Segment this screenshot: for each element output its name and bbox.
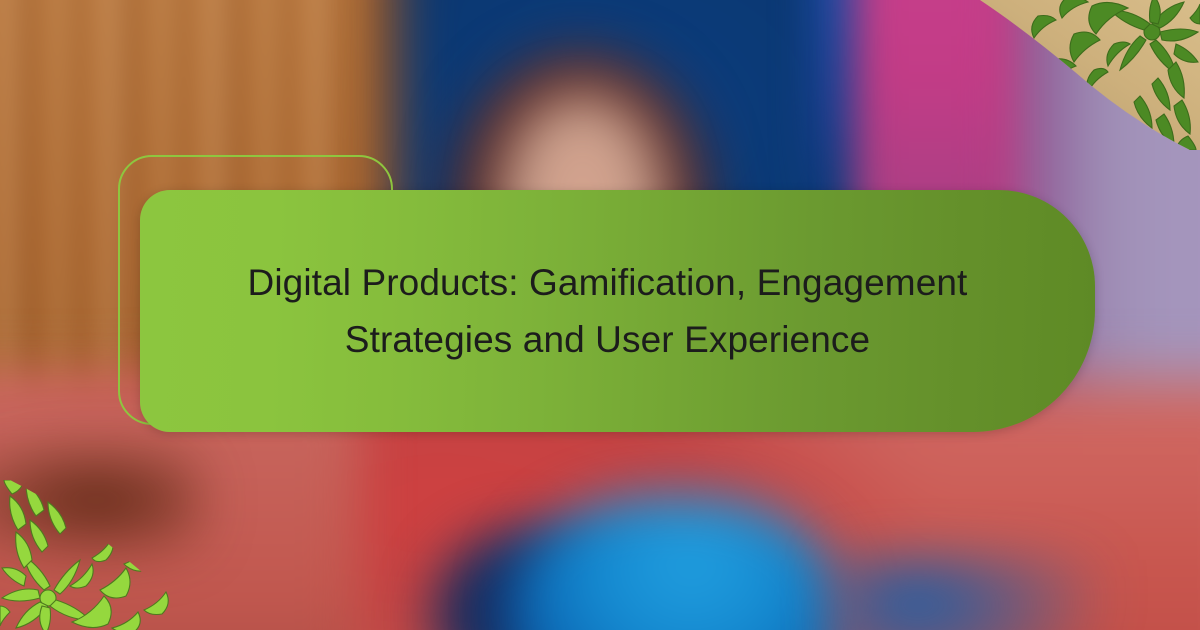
background-bottom-left-shadow — [0, 440, 200, 560]
background-bottom-right-blue — [840, 560, 1100, 630]
title-card-canvas: Digital Products: Gamification, Engageme… — [0, 0, 1200, 630]
page-title: Digital Products: Gamification, Engageme… — [240, 254, 975, 369]
title-card: Digital Products: Gamification, Engageme… — [140, 190, 1095, 432]
